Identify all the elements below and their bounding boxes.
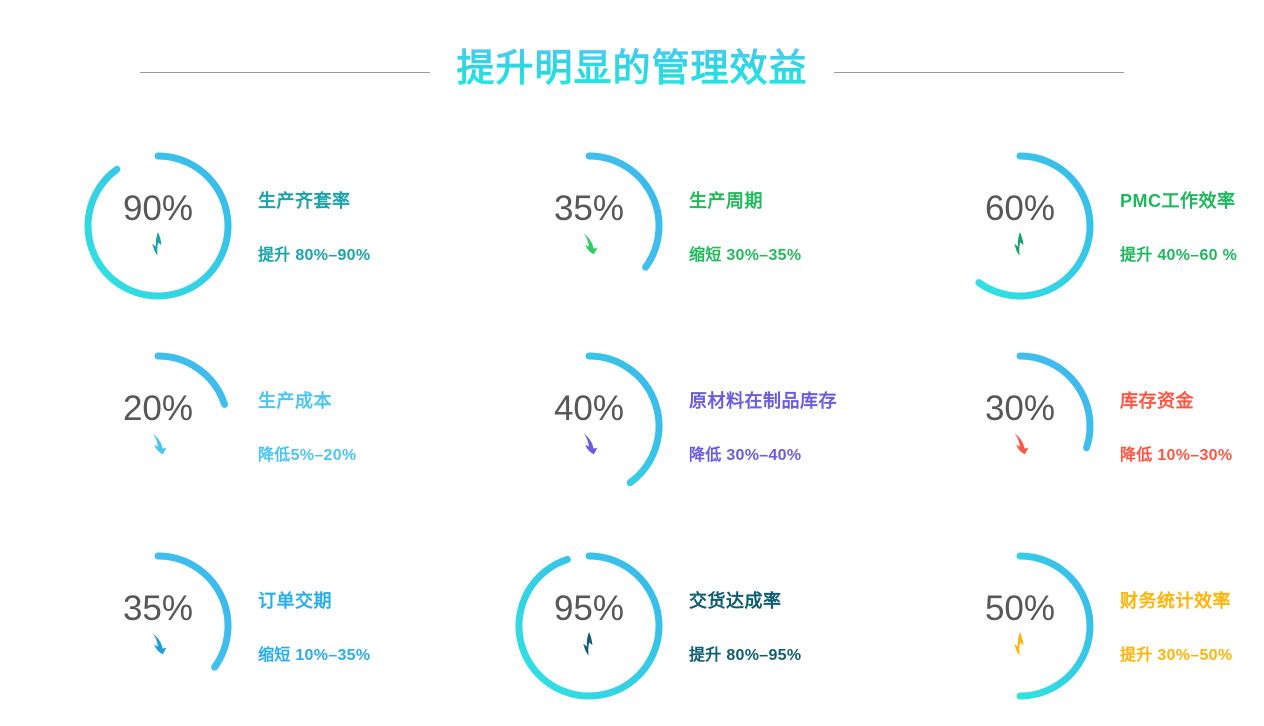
progress-ring-svg xyxy=(78,346,238,506)
page-title: 提升明显的管理效益 xyxy=(456,46,807,98)
metric-labels: 生产周期 缩短 30%–35% xyxy=(689,187,904,265)
progress-ring: 50% xyxy=(940,546,1100,706)
progress-ring-svg xyxy=(940,146,1100,306)
metric-detail: 提升 40%–60 % xyxy=(1120,241,1237,265)
metric-card: 35% 订单交期 缩短 10%–35% xyxy=(0,526,473,726)
progress-ring-svg xyxy=(509,346,669,506)
title-rule-right xyxy=(834,72,1124,73)
metric-title: 生产周期 xyxy=(689,187,763,213)
progress-arc xyxy=(979,156,1090,296)
progress-ring: 40% xyxy=(509,346,669,506)
metric-detail: 缩短 30%–35% xyxy=(689,241,801,265)
metrics-grid: 90% 生产齐套率 提升 80%–90% 35% xyxy=(0,126,1264,710)
metric-title: 订单交期 xyxy=(258,587,332,613)
metric-labels: 交货达成率 提升 80%–95% xyxy=(689,587,904,665)
progress-ring-svg xyxy=(940,546,1100,706)
title-rule-left xyxy=(140,72,430,73)
metric-card: 50% 财务统计效率 提升 30%–50% xyxy=(904,526,1264,726)
metric-title: 库存资金 xyxy=(1120,387,1194,413)
progress-arc xyxy=(589,156,659,267)
metric-labels: 订单交期 缩短 10%–35% xyxy=(258,587,473,665)
page-header: 提升明显的管理效益 xyxy=(0,42,1264,102)
progress-ring: 20% xyxy=(78,346,238,506)
progress-ring-svg xyxy=(78,546,238,706)
progress-ring: 35% xyxy=(78,546,238,706)
metric-card: 35% 生产周期 缩短 30%–35% xyxy=(473,126,904,326)
progress-arc xyxy=(589,356,659,483)
metric-detail: 降低 10%–30% xyxy=(1120,441,1232,465)
metric-title: 生产成本 xyxy=(258,387,332,413)
metric-detail: 降低 30%–40% xyxy=(689,441,801,465)
progress-ring: 95% xyxy=(509,546,669,706)
metric-title: 原材料在制品库存 xyxy=(689,387,837,413)
metric-labels: 生产齐套率 提升 80%–90% xyxy=(258,187,473,265)
metric-card: 60% PMC工作效率 提升 40%–60 % xyxy=(904,126,1264,326)
metric-detail: 提升 30%–50% xyxy=(1120,641,1232,665)
progress-arc xyxy=(1020,356,1090,448)
metric-labels: 财务统计效率 提升 30%–50% xyxy=(1120,587,1264,665)
metric-title: 交货达成率 xyxy=(689,587,782,613)
metric-labels: 生产成本 降低5%–20% xyxy=(258,387,473,465)
metric-title: PMC工作效率 xyxy=(1120,187,1236,213)
progress-ring: 35% xyxy=(509,146,669,306)
progress-arc xyxy=(88,156,228,296)
progress-arc xyxy=(1020,556,1090,696)
progress-arc xyxy=(519,556,659,696)
progress-ring: 30% xyxy=(940,346,1100,506)
metric-detail: 缩短 10%–35% xyxy=(258,641,370,665)
metric-detail: 提升 80%–95% xyxy=(689,641,801,665)
progress-ring-svg xyxy=(940,346,1100,506)
metric-labels: 库存资金 降低 10%–30% xyxy=(1120,387,1264,465)
metric-detail: 降低5%–20% xyxy=(258,441,356,465)
metric-labels: PMC工作效率 提升 40%–60 % xyxy=(1120,187,1264,265)
progress-arc xyxy=(158,356,225,404)
metric-card: 90% 生产齐套率 提升 80%–90% xyxy=(0,126,473,326)
metric-card: 30% 库存资金 降低 10%–30% xyxy=(904,326,1264,526)
progress-ring-svg xyxy=(509,546,669,706)
progress-arc xyxy=(158,556,228,667)
metric-title: 生产齐套率 xyxy=(258,187,351,213)
metric-detail: 提升 80%–90% xyxy=(258,241,370,265)
progress-ring-svg xyxy=(509,146,669,306)
metric-title: 财务统计效率 xyxy=(1120,587,1231,613)
progress-ring: 90% xyxy=(78,146,238,306)
metric-card: 20% 生产成本 降低5%–20% xyxy=(0,326,473,526)
metric-card: 95% 交货达成率 提升 80%–95% xyxy=(473,526,904,726)
metric-card: 40% 原材料在制品库存 降低 30%–40% xyxy=(473,326,904,526)
progress-ring: 60% xyxy=(940,146,1100,306)
progress-ring-svg xyxy=(78,146,238,306)
metric-labels: 原材料在制品库存 降低 30%–40% xyxy=(689,387,904,465)
